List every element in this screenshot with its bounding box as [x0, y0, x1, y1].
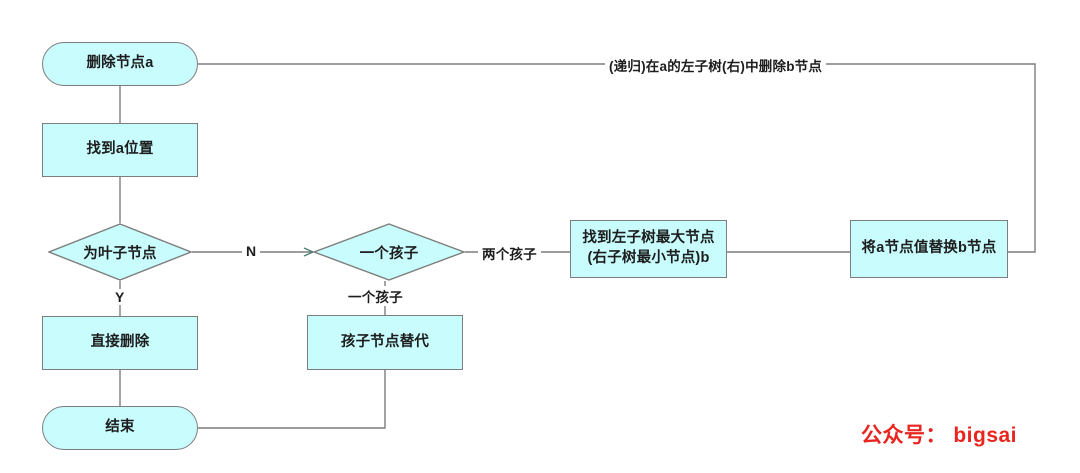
- node-one-child-label: 一个孩子: [313, 223, 465, 281]
- node-replace-value[interactable]: 将a节点值替换b节点: [850, 220, 1008, 278]
- node-end-label: 结束: [105, 418, 134, 438]
- node-direct-delete-label: 直接删除: [91, 333, 150, 353]
- node-end[interactable]: 结束: [42, 406, 198, 450]
- node-direct-delete[interactable]: 直接删除: [42, 316, 198, 370]
- node-is-leaf[interactable]: 为叶子节点: [48, 223, 192, 281]
- watermark-text: 公众号： bigsai: [861, 419, 1017, 449]
- flowchart-canvas: 删除节点a 找到a位置 为叶子节点 一个孩子 找到左子树最大节点 (右子树最小节…: [0, 0, 1080, 473]
- edge-label-one-child-branch: 一个孩子: [344, 286, 407, 306]
- node-start-label: 删除节点a: [86, 54, 153, 74]
- edge-label-yes: Y: [111, 289, 129, 305]
- node-is-leaf-label: 为叶子节点: [48, 223, 192, 281]
- edge-childreplace-to-end: [198, 370, 385, 428]
- node-find-max-min[interactable]: 找到左子树最大节点 (右子树最小节点)b: [570, 220, 727, 278]
- edge-label-two-children: 两个孩子: [478, 243, 541, 263]
- node-find-a[interactable]: 找到a位置: [42, 123, 198, 177]
- node-start[interactable]: 删除节点a: [42, 42, 198, 86]
- node-one-child[interactable]: 一个孩子: [313, 223, 465, 281]
- node-find-a-label: 找到a位置: [86, 140, 153, 160]
- node-child-replace-label: 孩子节点替代: [341, 333, 429, 353]
- node-find-max-min-line2: (右子树最小节点)b: [582, 249, 714, 269]
- node-find-max-min-line1: 找到左子树最大节点: [582, 229, 714, 249]
- edge-label-no: N: [242, 243, 260, 259]
- node-child-replace[interactable]: 孩子节点替代: [307, 315, 463, 370]
- edge-label-recursive-delete: (递归)在a的左子树(右)中删除b节点: [605, 55, 826, 75]
- node-replace-value-label: 将a节点值替换b节点: [862, 239, 997, 259]
